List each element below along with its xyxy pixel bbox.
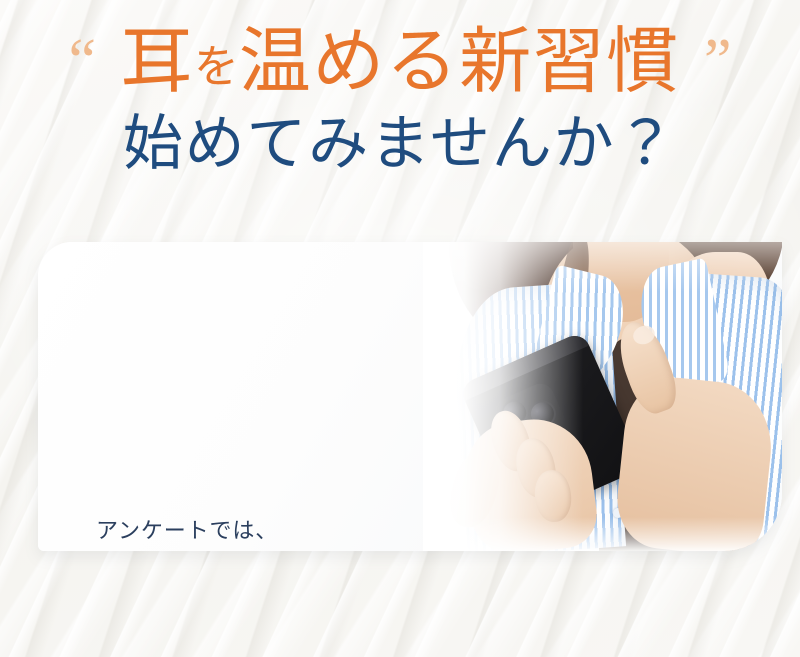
photo-top-fade — [423, 242, 782, 292]
copy-line-1: アンケートでは、 — [96, 520, 482, 542]
quote-close-icon: ” — [704, 30, 732, 92]
headline-small-kana: を — [194, 45, 239, 90]
quote-open-icon: “ — [68, 30, 96, 92]
headline-row-2: 始めてみませんか？ — [0, 114, 800, 174]
photo-woman-holding-smartphone — [423, 242, 782, 551]
photo-canvas — [423, 242, 782, 551]
card-copy: アンケートでは、 「リラックスできましたか？」 という質問に全員の方が 「リラッ… — [96, 520, 482, 551]
headline-row-1: “ 耳を温める新習慣 ” — [120, 26, 679, 98]
content-card: アンケートでは、 「リラックスできましたか？」 という質問に全員の方が 「リラッ… — [38, 242, 782, 551]
headline-kanji-1: 耳 — [120, 22, 193, 102]
headline-block: “ 耳を温める新習慣 ” 始めてみませんか？ — [0, 26, 800, 174]
headline-kanji-2: 温める新習慣 — [239, 22, 680, 102]
headline-orange-text: 耳を温める新習慣 — [120, 26, 679, 98]
